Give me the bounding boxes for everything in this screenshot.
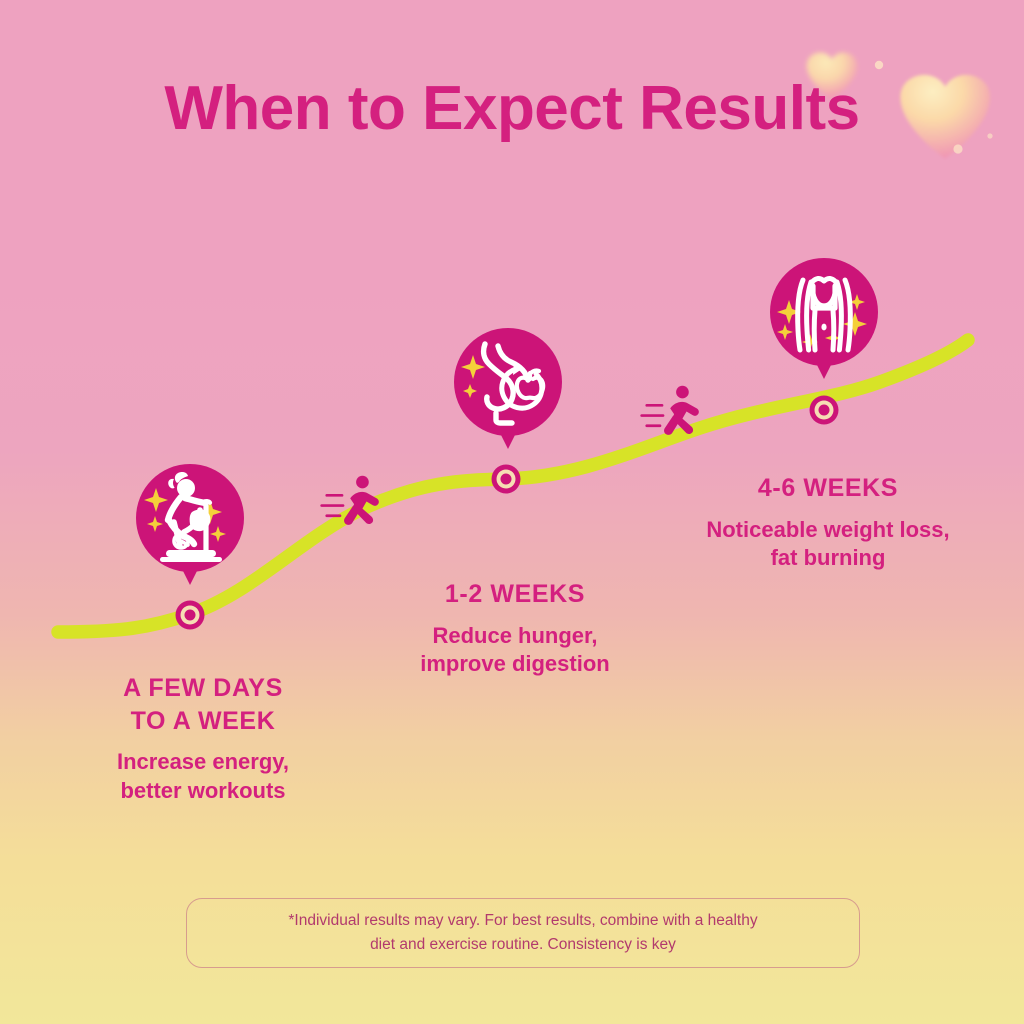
stomach-digestion-icon bbox=[454, 328, 562, 436]
disclaimer-text: *Individual results may vary. For best r… bbox=[266, 909, 779, 957]
navel-dot bbox=[821, 324, 826, 331]
milestone-3-title: 4-6 WEEKS bbox=[668, 472, 988, 505]
page-title: When to Expect Results bbox=[0, 78, 1024, 140]
milestone-2-title: 1-2 WEEKS bbox=[360, 578, 670, 611]
milestone-3-description: Noticeable weight loss, fat burning bbox=[668, 516, 988, 573]
milestone-3-badge[interactable] bbox=[770, 258, 878, 366]
milestone-1-label: A FEW DAYS TO A WEEK Increase energy, be… bbox=[48, 672, 358, 805]
milestone-1-description: Increase energy, better workouts bbox=[48, 748, 358, 805]
ring-marker-2 bbox=[492, 465, 521, 494]
milestone-2-label: 1-2 WEEKS Reduce hunger, improve digesti… bbox=[360, 578, 670, 679]
spin-bike-icon bbox=[136, 464, 244, 572]
slim-torso-icon bbox=[770, 258, 878, 366]
milestone-1-title: A FEW DAYS TO A WEEK bbox=[48, 672, 358, 737]
ring-marker-3 bbox=[810, 396, 839, 425]
sparkle-icon bbox=[461, 355, 485, 398]
milestone-1-badge[interactable] bbox=[136, 464, 244, 572]
milestone-3-label: 4-6 WEEKS Noticeable weight loss, fat bu… bbox=[668, 472, 988, 573]
runner-2-icon bbox=[642, 386, 699, 435]
runner-1-icon bbox=[322, 476, 379, 525]
milestone-2-badge[interactable] bbox=[454, 328, 562, 436]
disclaimer-box: *Individual results may vary. For best r… bbox=[186, 898, 860, 968]
infographic-canvas: When to Expect Results bbox=[0, 0, 1024, 1024]
sparkle-icon bbox=[777, 294, 867, 350]
ring-marker-1 bbox=[176, 601, 205, 630]
milestone-2-description: Reduce hunger, improve digestion bbox=[360, 622, 670, 679]
